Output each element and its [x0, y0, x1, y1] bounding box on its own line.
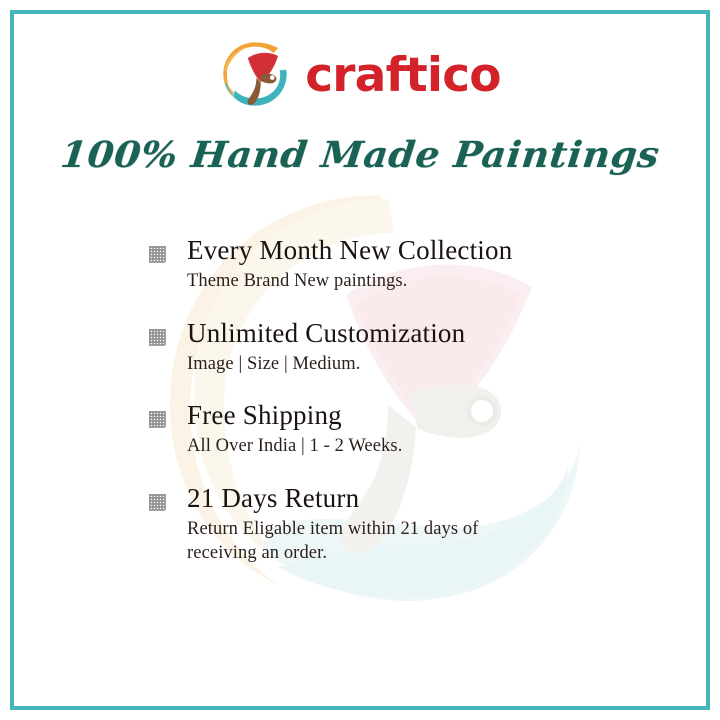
list-item: 21 Days Return Return Eligable item with… [147, 484, 617, 566]
list-item-body: Unlimited Customization Image | Size | M… [187, 319, 617, 377]
list-item-title: Unlimited Customization [187, 319, 617, 348]
list-item-title: Every Month New Collection [187, 236, 617, 265]
promo-banner: craftico 100% Hand Made Paintings [0, 0, 720, 720]
list-item-body: 21 Days Return Return Eligable item with… [187, 484, 617, 566]
list-item: Every Month New Collection Theme Brand N… [147, 236, 617, 294]
craftico-logo-icon [219, 38, 291, 110]
list-item-subtitle: All Over India | 1 - 2 Weeks. [187, 434, 547, 458]
list-item-body: Free Shipping All Over India | 1 - 2 Wee… [187, 401, 617, 459]
woven-mesh-square-icon [147, 492, 167, 512]
list-item-title: Free Shipping [187, 401, 617, 430]
list-item-subtitle: Image | Size | Medium. [187, 352, 547, 376]
page-title: 100% Hand Made Paintings [0, 134, 720, 176]
list-item-subtitle: Return Eligable item within 21 days of r… [187, 517, 547, 566]
list-item: Unlimited Customization Image | Size | M… [147, 319, 617, 377]
list-item-body: Every Month New Collection Theme Brand N… [187, 236, 617, 294]
brand-lockup: craftico [0, 33, 720, 115]
woven-mesh-square-icon [147, 244, 167, 264]
list-item-subtitle: Theme Brand New paintings. [187, 269, 547, 293]
feature-list: Every Month New Collection Theme Brand N… [147, 236, 617, 566]
woven-mesh-square-icon [147, 409, 167, 429]
brand-wordmark: craftico [305, 52, 501, 99]
woven-mesh-square-icon [147, 327, 167, 347]
list-item-title: 21 Days Return [187, 484, 617, 513]
list-item: Free Shipping All Over India | 1 - 2 Wee… [147, 401, 617, 459]
